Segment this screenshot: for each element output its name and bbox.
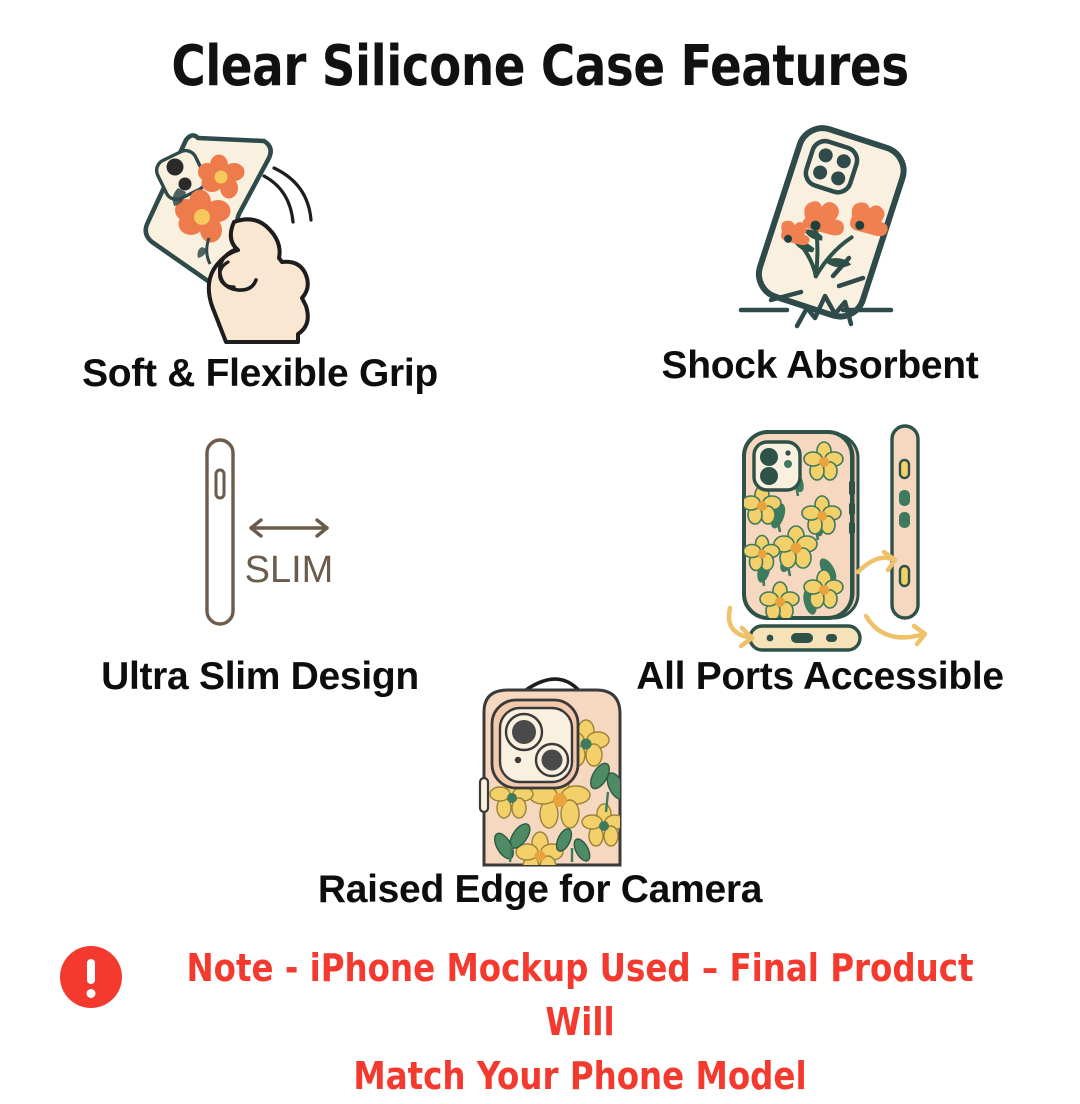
motion-arc-group: [264, 168, 311, 222]
bottom-edge-ports: [750, 626, 860, 650]
exclamation-circle-icon: [60, 946, 122, 1008]
feature-label-shock-absorbent: Shock Absorbent: [560, 344, 1080, 388]
side-button: [216, 470, 224, 498]
note-line-1: Note - iPhone Mockup Used – Final Produc…: [162, 942, 998, 1050]
feature-label-ultra-slim-design: Ultra Slim Design: [0, 655, 520, 699]
raised-camera-module: [492, 700, 578, 788]
phone-side-profile: [207, 440, 233, 624]
phone-drop-impact-icon: [735, 118, 945, 343]
side-cutouts: [849, 480, 855, 535]
side-button: [480, 778, 488, 812]
note-line-2: Match Your Phone Model: [162, 1050, 998, 1104]
hand-holding-flexing-phone-icon: [130, 110, 380, 340]
feature-label-raised-edge-for-camera: Raised Edge for Camera: [230, 868, 850, 912]
phone-raised-camera-edge-icon: [460, 660, 650, 865]
infographic-page: Clear Silicone Case Features: [0, 0, 1080, 1080]
feature-label-soft-flexible-grip: Soft & Flexible Grip: [0, 352, 520, 396]
camera-module: [754, 442, 800, 490]
phone-side-rail: [892, 426, 918, 618]
slim-measure-label: SLIM: [245, 549, 334, 591]
phone-side-profile-slim-icon: SLIM: [195, 432, 365, 632]
width-arrow: [251, 520, 327, 536]
page-title: Clear Silicone Case Features: [38, 34, 1042, 99]
phone-ports-cutouts-icon: [718, 420, 948, 670]
dropping-phone-case: [753, 122, 912, 323]
